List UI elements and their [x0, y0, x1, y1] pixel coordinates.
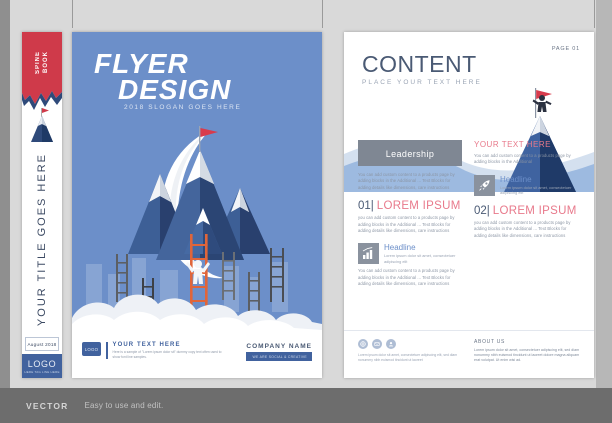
rocket-icon: [474, 175, 495, 196]
left-feature-block: Headline Lorem ipsum dolor sit amet, con…: [358, 243, 462, 264]
right-feature-block: Headline Lorem ipsum dolor sit amet, con…: [474, 175, 578, 196]
content-page: PAGE 01 CONTENT PLACE YOUR TEXT HERE: [344, 32, 594, 378]
content-footer-right: ABOUT US Lorem ipsum dolor sit amet, con…: [474, 339, 582, 363]
content-footer: Lorem ipsum dolor sit amet, consectetuer…: [344, 330, 594, 378]
mountain-icon: [22, 104, 62, 146]
content-header: CONTENT PLACE YOUR TEXT HERE: [362, 52, 482, 86]
cover-footer: LOGO YOUR TEXT HERE Here is a sample of …: [72, 332, 322, 378]
cover-footer-heading: YOUR TEXT HERE: [113, 342, 225, 348]
right-paragraph-2: you can add custom content to a products…: [474, 220, 578, 239]
leadership-section-bar: Leadership: [358, 140, 462, 166]
spine-panel: SPINE BOOK YOUR TITLE GOES HERE August 2…: [22, 32, 62, 378]
about-us-text: Lorem ipsum dolor sit amet, consectetuer…: [474, 348, 582, 363]
left-column: Leadership You can add custom content to…: [358, 140, 462, 288]
cover-title-line1: FLYER: [94, 50, 304, 77]
globe-icon[interactable]: [358, 339, 368, 349]
guide-line: [322, 0, 323, 28]
cover-slogan: 2018 SLOGAN GOES HERE: [94, 104, 304, 111]
left-paragraph-1: You can add custom content to a products…: [358, 172, 462, 191]
content-footer-left-text: Lorem ipsum dolor sit amet, consectetuer…: [358, 353, 462, 363]
right-number-title: LOREM IPSUM: [493, 205, 577, 217]
left-number-title: LOREM IPSUM: [377, 200, 461, 212]
guide-line: [72, 0, 73, 28]
caption-vector-label: VECTOR: [26, 401, 68, 411]
left-number-label: 01|: [358, 200, 374, 212]
right-paragraph-1: You can add custom content to a products…: [474, 153, 578, 166]
mail-icon[interactable]: [372, 339, 382, 349]
spine-logo-subtext: HERE TAG LINE HERE: [24, 370, 59, 374]
cover-footer-right: COMPANY NAME WE ARE SOCIAL & CREATIVE: [246, 343, 312, 361]
flyer-cover-page: FLYER DESIGN 2018 SLOGAN GOES HERE: [72, 32, 322, 378]
cover-logo: LOGO: [82, 342, 101, 356]
guide-line: [594, 0, 595, 28]
left-paragraph-3: You can add custom content to a products…: [358, 268, 462, 287]
cover-title-line2: DESIGN: [94, 77, 304, 103]
accent-divider: [106, 342, 108, 359]
page-number: PAGE 01: [552, 46, 580, 52]
spine-date-badge: August 2018: [25, 337, 59, 351]
right-heading: YOUR TEXT HERE: [474, 140, 578, 149]
spine-logo-text: LOGO: [28, 359, 56, 369]
content-columns: Leadership You can add custom content to…: [344, 140, 594, 350]
businessman-with-flag-icon: [533, 88, 552, 118]
cover-footer-body: Here is a sample of "Lorem ipsum dolor s…: [113, 350, 225, 359]
page-title: CONTENT: [362, 52, 482, 76]
spine-tag-line2: BOOK: [43, 52, 49, 74]
left-feature-title: Headline: [384, 243, 462, 252]
cover-title-block: FLYER DESIGN 2018 SLOGAN GOES HERE: [94, 50, 304, 111]
social-icon-row: [358, 339, 462, 349]
company-name: COMPANY NAME: [246, 343, 312, 350]
caption-bar: VECTOR Easy to use and edit.: [0, 388, 612, 423]
content-footer-left: Lorem ipsum dolor sit amet, consectetuer…: [358, 339, 462, 363]
workspace: SPINE BOOK YOUR TITLE GOES HERE August 2…: [0, 0, 612, 423]
backdrop-left-shade: [0, 0, 10, 388]
right-feature-title: Headline: [500, 175, 578, 184]
spine-badge: SPINE BOOK: [22, 40, 62, 86]
user-icon[interactable]: [386, 339, 396, 349]
left-feature-text: Lorem ipsum dolor sit amet, consectetuer…: [384, 253, 462, 264]
bar-chart-icon: [358, 243, 379, 264]
backdrop-right-shade: [596, 0, 612, 388]
right-number-label: 02|: [474, 205, 490, 217]
right-feature-text: Lorem ipsum dolor sit amet, consectetuer…: [500, 185, 578, 196]
left-paragraph-2: you can add custom content to a products…: [358, 215, 462, 234]
company-tagline-button[interactable]: WE ARE SOCIAL & CREATIVE: [246, 352, 312, 361]
spine-logo-block: LOGO HERE TAG LINE HERE: [22, 354, 62, 378]
spine-title: YOUR TITLE GOES HERE: [22, 148, 62, 332]
caption-subtext: Easy to use and edit.: [84, 401, 163, 410]
mountain-range-icon: [128, 150, 270, 260]
about-us-title: ABOUT US: [474, 339, 582, 345]
cover-footer-left: LOGO YOUR TEXT HERE Here is a sample of …: [82, 342, 225, 359]
right-column: YOUR TEXT HERE You can add custom conten…: [474, 140, 578, 239]
spine-tag-line1: SPINE: [35, 51, 41, 74]
left-numbered-heading: 01| LOREM IPSUM: [358, 200, 462, 212]
right-numbered-heading: 02| LOREM IPSUM: [474, 205, 578, 217]
cover-illustration: [72, 112, 322, 332]
